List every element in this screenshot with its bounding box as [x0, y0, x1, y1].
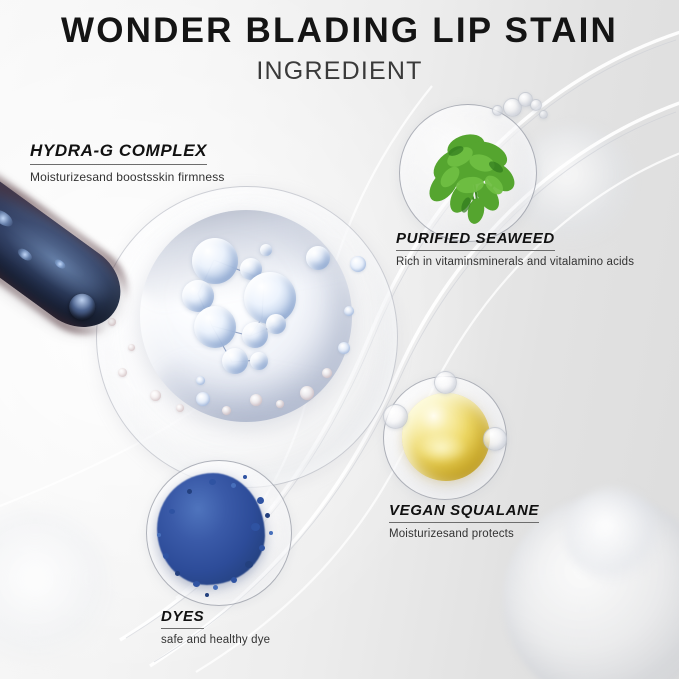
dish-bubble	[150, 390, 161, 401]
ingredient-name: PURIFIED SEAWEED	[396, 230, 555, 251]
dish-bubble	[196, 376, 205, 385]
ingredient-label-dyes: DYES safe and healthy dye	[161, 608, 270, 646]
page-subtitle: INGREDIENT	[0, 57, 679, 86]
lip-stain-applicator-wand	[0, 157, 137, 344]
ingredient-name: HYDRA-G COMPLEX	[30, 141, 207, 165]
molecule-bubble	[222, 348, 248, 374]
powder-grain	[163, 553, 169, 559]
powder-grain	[259, 545, 265, 551]
dish-bubble	[118, 368, 127, 377]
dish-bubble	[250, 394, 262, 406]
powder-grain	[265, 513, 270, 518]
powder-grain	[251, 523, 260, 531]
dish-bubble	[128, 344, 135, 351]
powder-grain	[169, 509, 175, 514]
ingredient-infographic: WONDER BLADING LIP STAIN INGREDIENT HYDR…	[0, 0, 679, 679]
ingredient-description: Moisturizesand protects	[389, 528, 539, 540]
seaweed-frame-bubble	[492, 105, 503, 116]
dish-bubble	[276, 400, 284, 408]
molecule-bubble	[194, 306, 236, 348]
powder-grain	[187, 489, 192, 494]
background-blur-bottom-left	[0, 511, 110, 661]
powder-grain	[175, 571, 180, 576]
dyes-petri-dish	[146, 460, 292, 606]
ingredient-description: Rich in vitaminsminerals and vitalamino …	[396, 256, 634, 268]
squalane-frame-bubble	[483, 427, 507, 451]
molecule-bubble	[306, 246, 330, 270]
powder-grain	[209, 479, 216, 485]
powder-grain	[193, 581, 200, 587]
powder-grain	[213, 585, 218, 590]
powder-grain	[269, 531, 273, 535]
squalane-frame-bubble	[383, 404, 408, 429]
powder-grain	[243, 475, 247, 479]
squalane-frame-bubble	[434, 371, 457, 394]
dish-bubble	[322, 368, 332, 378]
ingredient-label-hydra-g-complex: HYDRA-G COMPLEX Moisturizesand boostsski…	[30, 141, 225, 184]
seaweed-circle-frame	[399, 104, 537, 242]
hydra-g-molecule-cluster	[140, 210, 352, 422]
golden-oil-droplet	[402, 393, 490, 481]
molecule-bubble	[260, 244, 272, 256]
seaweed-frame-bubble	[539, 110, 548, 119]
molecule-bubble	[250, 352, 268, 370]
seaweed-icon	[400, 105, 536, 241]
ingredient-name: DYES	[161, 608, 204, 629]
molecule-bubble	[266, 314, 286, 334]
powder-grain	[231, 483, 236, 488]
dish-bubble	[350, 256, 366, 272]
blue-pigment-powder	[157, 473, 265, 585]
molecule-bubble	[192, 238, 238, 284]
dish-bubble	[344, 306, 354, 316]
powder-grain	[257, 497, 264, 504]
ingredient-name: VEGAN SQUALANE	[389, 502, 539, 523]
powder-grain	[231, 577, 237, 583]
powder-grain	[205, 593, 209, 597]
ingredient-label-vegan-squalane: VEGAN SQUALANE Moisturizesand protects	[389, 502, 539, 540]
molecule-bubble	[242, 322, 268, 348]
ingredient-description: safe and healthy dye	[161, 634, 270, 646]
wand-product-bead	[64, 289, 100, 325]
dish-bubble	[196, 392, 210, 406]
dish-bubble	[222, 406, 231, 415]
dish-bubble	[338, 342, 350, 354]
dish-bubble	[300, 386, 314, 400]
dish-bubble	[176, 404, 184, 412]
page-title: WONDER BLADING LIP STAIN	[0, 11, 679, 51]
powder-grain	[245, 561, 253, 568]
wand-shimmer	[0, 207, 15, 230]
seaweed-frame-bubble	[530, 99, 542, 111]
ingredient-label-purified-seaweed: PURIFIED SEAWEED Rich in vitaminsmineral…	[396, 230, 634, 268]
ingredient-description: Moisturizesand boostsskin firmness	[30, 170, 225, 184]
wand-shimmer	[53, 258, 67, 271]
background-blur-right	[565, 487, 661, 583]
molecule-bond-lines	[140, 210, 352, 422]
powder-grain	[157, 533, 161, 537]
wand-shimmer	[16, 246, 34, 263]
